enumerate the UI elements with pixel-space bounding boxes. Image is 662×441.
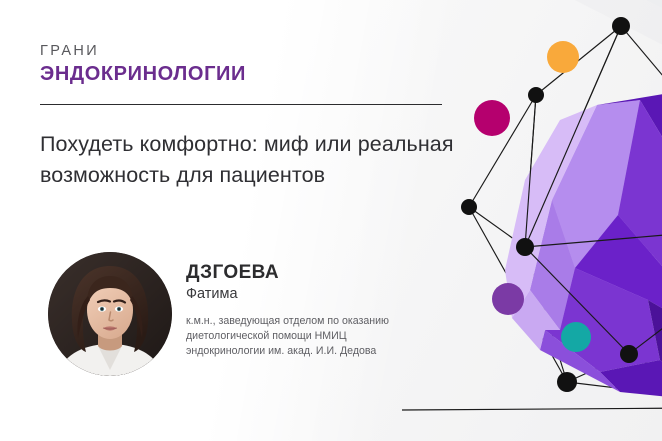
- speaker-credentials: к.м.н., заведующая отделом по оказанию д…: [186, 314, 389, 359]
- presentation-slide: ГРАНИ ЭНДОКРИНОЛОГИИ Похудеть комфортно:…: [0, 0, 662, 441]
- node-lower-center: [557, 372, 577, 392]
- magenta-dot: [474, 100, 510, 136]
- speaker-given-name: Фатима: [186, 285, 389, 303]
- brand-line-grani: ГРАНИ: [40, 44, 246, 59]
- brand-line-endokrinologii: ЭНДОКРИНОЛОГИИ: [40, 64, 246, 84]
- orange-dot: [547, 41, 579, 73]
- speaker-avatar: [48, 252, 172, 376]
- slide-title: Похудеть комфортно: миф или реальная воз…: [40, 129, 460, 190]
- decorative-crystal-graphic: [402, 0, 662, 441]
- node-mid-left: [461, 199, 477, 215]
- node-upper-left: [528, 87, 544, 103]
- header-divider: [40, 104, 442, 105]
- violet-dot: [492, 283, 524, 315]
- speaker-surname: ДЗГОЕВА: [186, 263, 389, 283]
- teal-dot: [561, 322, 591, 352]
- node-top: [612, 17, 630, 35]
- speaker-details: ДЗГОЕВА Фатима к.м.н., заведующая отдело…: [186, 252, 389, 359]
- avatar-portrait-illustration: [48, 252, 172, 376]
- brand-logo: ГРАНИ ЭНДОКРИНОЛОГИИ: [40, 44, 246, 84]
- node-lower-right: [620, 345, 638, 363]
- node-center: [516, 238, 534, 256]
- speaker-block: ДЗГОЕВА Фатима к.м.н., заведующая отдело…: [48, 252, 389, 376]
